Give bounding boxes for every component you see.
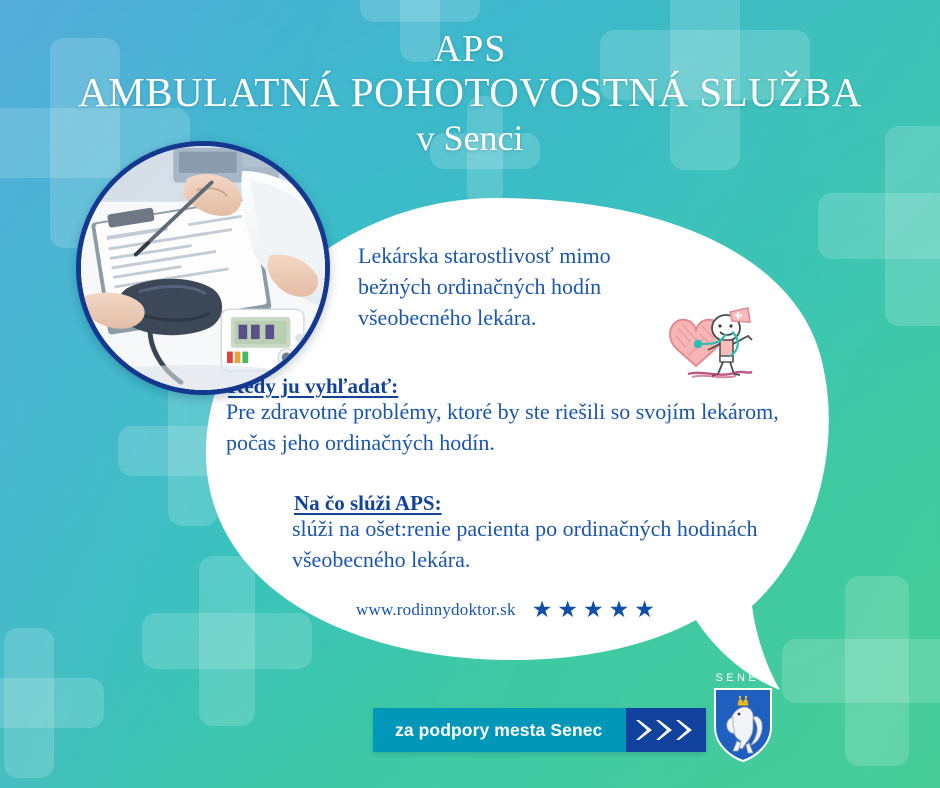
doctor-photo-image [81, 146, 325, 390]
senec-crest-label: SENEC [713, 672, 773, 684]
star-icon: ★ [634, 598, 655, 621]
website-rating-row: www.rodinnydoktor.sk ★ ★ ★ ★ ★ [356, 598, 655, 621]
chevron-right-triple-icon [635, 717, 697, 743]
bubble-intro-text: Lekárska starostlivosť mimo bežných ordi… [358, 240, 688, 334]
star-icon: ★ [609, 598, 630, 621]
support-banner[interactable]: za podpory mesta Senec [373, 708, 706, 752]
support-banner-label: za podpory mesta Senec [373, 708, 626, 752]
title-main: AMBULATNÁ POHOTOVOSTNÁ SLUŽBA [0, 70, 940, 116]
star-icon: ★ [532, 598, 553, 621]
rating-stars: ★ ★ ★ ★ ★ [532, 598, 655, 621]
star-icon: ★ [557, 598, 578, 621]
nurse-heart-doodle-icon [658, 288, 764, 380]
doctor-photo-circle [76, 141, 330, 395]
senec-crest: SENEC [713, 672, 773, 772]
senec-coat-of-arms-icon [713, 687, 773, 763]
star-icon: ★ [583, 598, 604, 621]
poster-header: APS AMBULATNÁ POHOTOVOSTNÁ SLUŽBA v Senc… [0, 30, 940, 160]
title-aps: APS [0, 30, 940, 70]
poster-root: APS AMBULATNÁ POHOTOVOSTNÁ SLUŽBA v Senc… [0, 0, 940, 788]
chevron-arrows-icon [626, 708, 706, 752]
section-body-when: Pre zdravotné problémy, ktoré by ste rie… [226, 396, 811, 458]
website-url[interactable]: www.rodinnydoktor.sk [356, 600, 516, 620]
section-body-purpose: slúži na ošet:renie pacienta po ordinačn… [292, 513, 792, 575]
